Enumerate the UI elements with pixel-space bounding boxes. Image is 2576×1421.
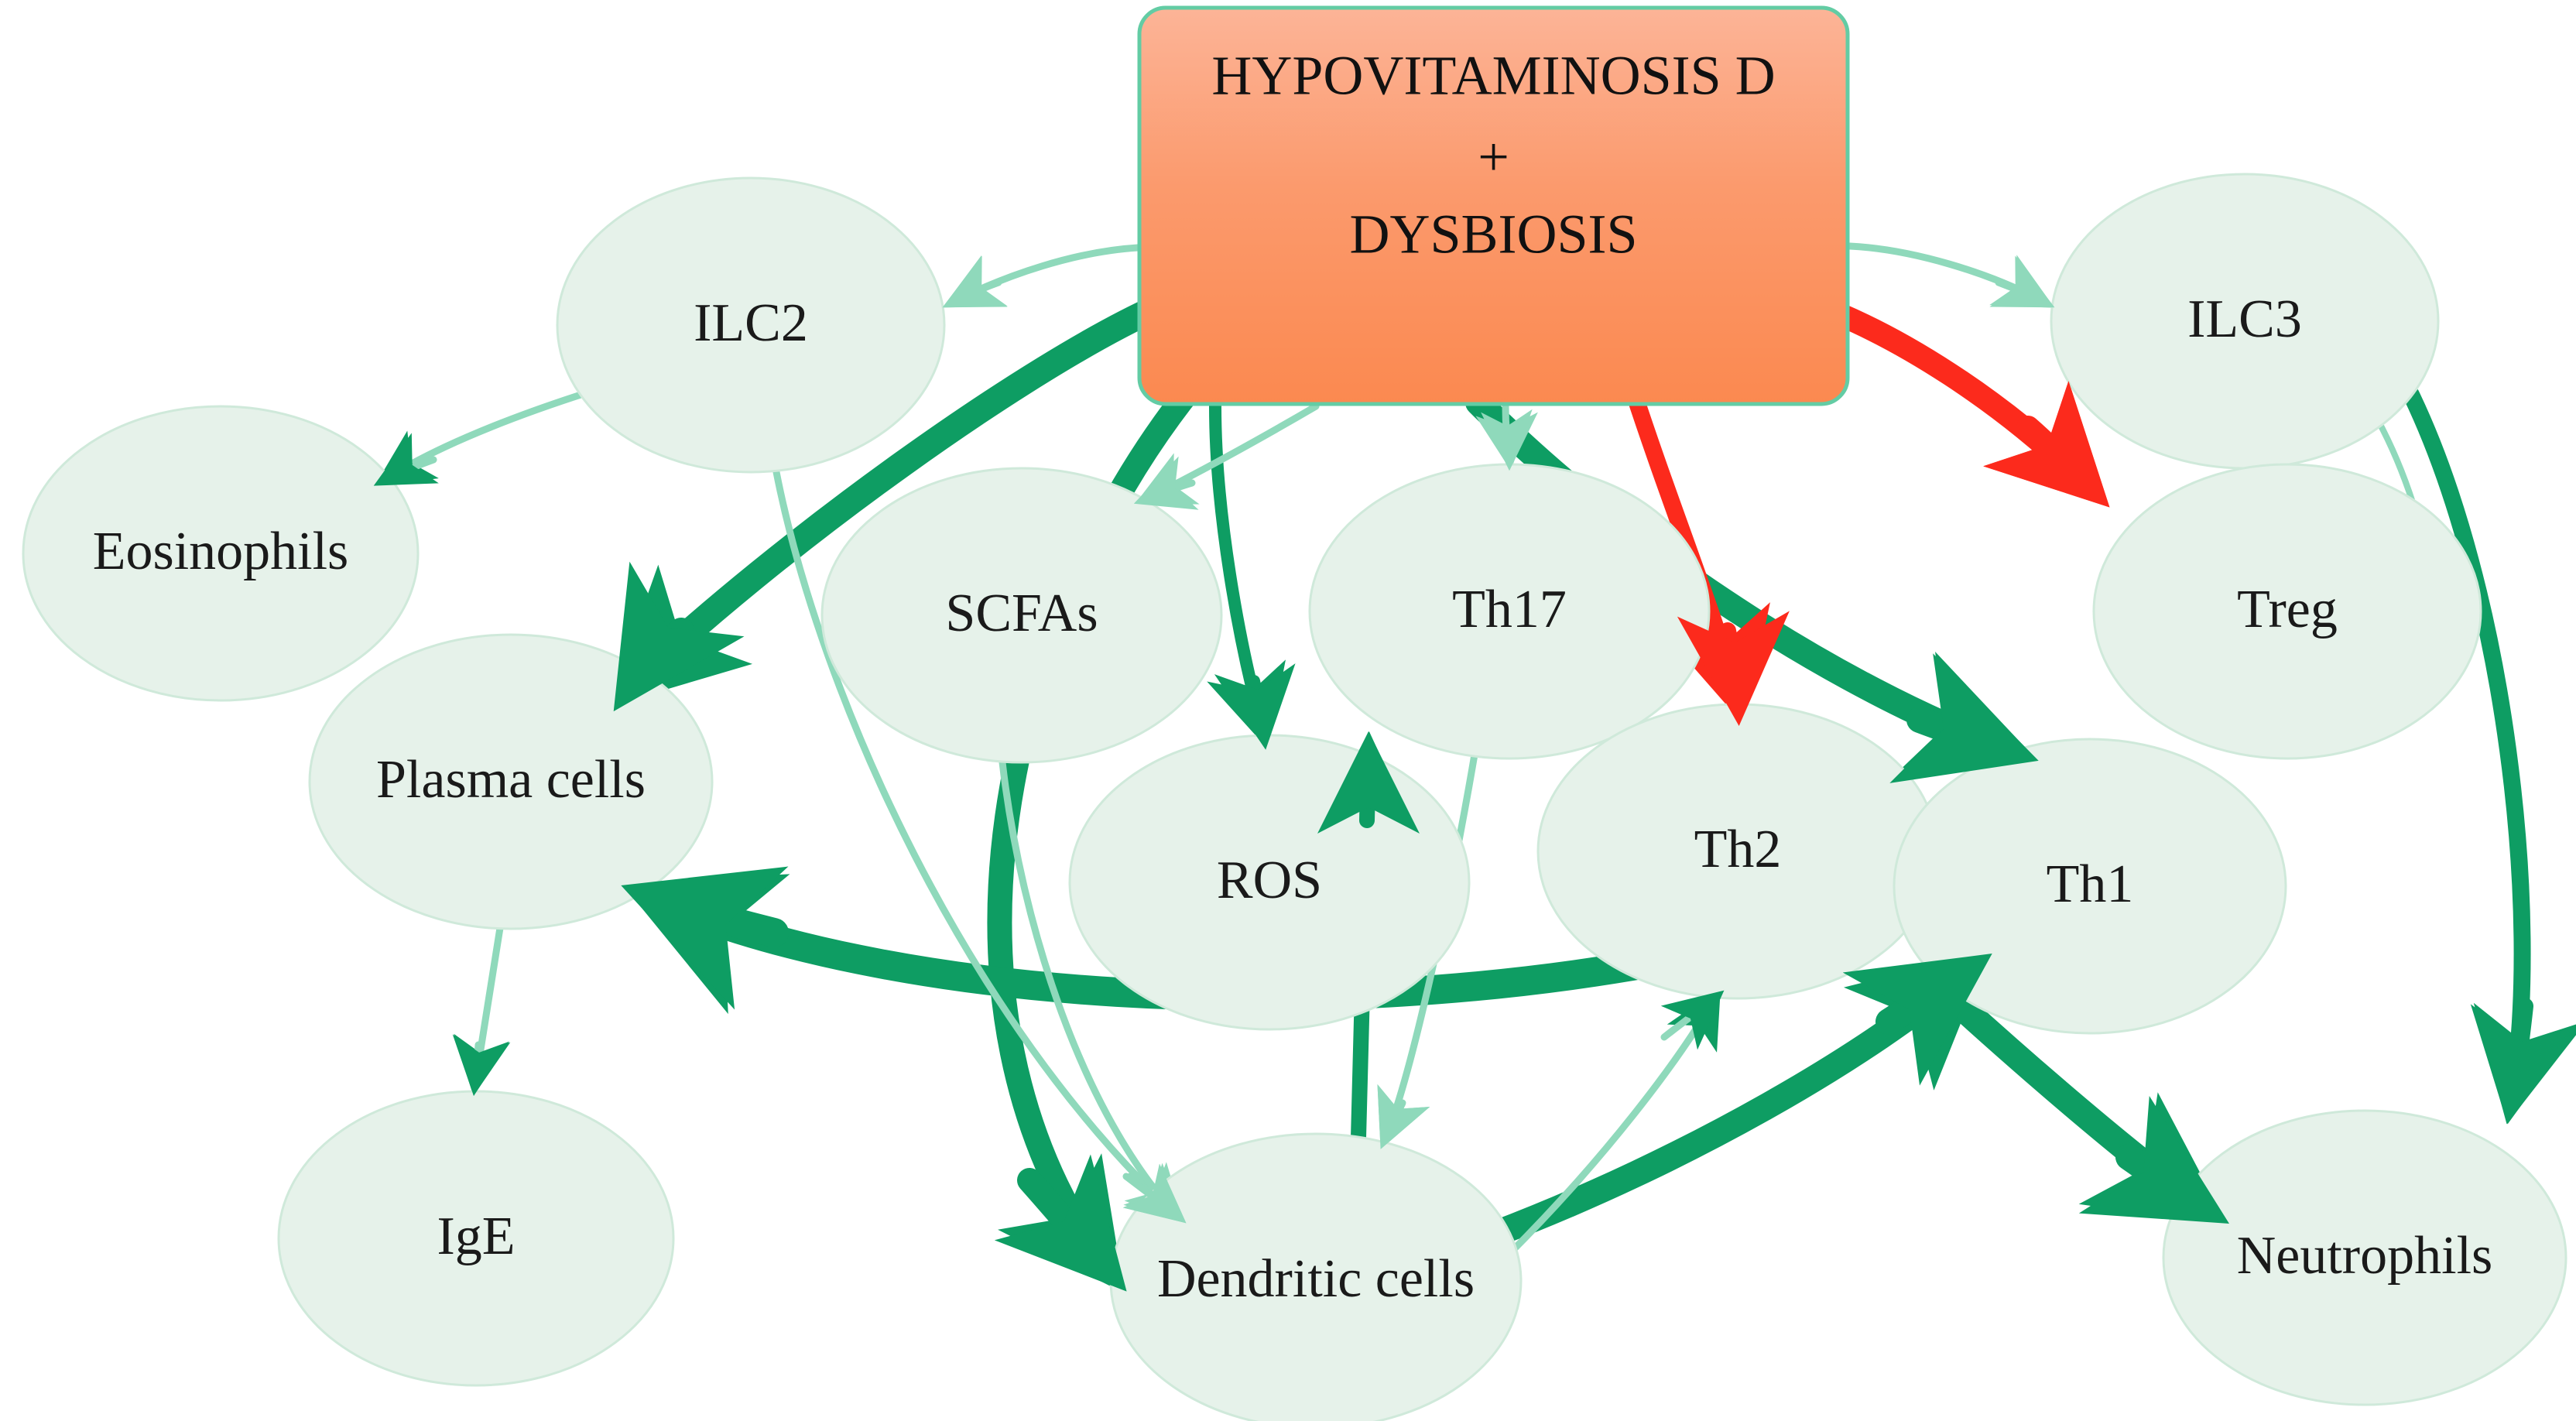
node-label-ige: IgE: [437, 1207, 515, 1266]
edge-tip-box-to-ilc3: [1999, 282, 2043, 302]
node-label-th1: Th1: [2047, 854, 2134, 914]
node-label-neutrophils: Neutrophils: [2237, 1226, 2493, 1286]
edge-tip-box-to-th2: [1728, 631, 1738, 700]
node-treg[interactable]: Treg: [2094, 464, 2481, 758]
node-neutrophils[interactable]: Neutrophils: [2163, 1111, 2566, 1405]
diagram-canvas: ILC2EosinophilsPlasma cellsIgESCFAsROSTh…: [0, 0, 2576, 1421]
node-label-ilc3: ILC3: [2187, 289, 2302, 349]
edge-tip-box-to-th17: [1508, 437, 1509, 458]
edge-tip-dendritic-cells-to-th17: [1367, 755, 1368, 820]
edge-tip-th2-to-plasma-cells: [654, 898, 774, 933]
node-label-scfas: SCFAs: [945, 584, 1098, 643]
edge-ilc3-to-neutrophils: [2411, 395, 2523, 1099]
node-label-th2: Th2: [1694, 820, 1782, 879]
node-ilc2[interactable]: ILC2: [557, 178, 944, 472]
edge-box-to-ilc2: [954, 248, 1138, 302]
box-title-plus-sign: +: [1478, 126, 1509, 188]
node-label-treg: Treg: [2237, 580, 2338, 639]
node-th17[interactable]: Th17: [1310, 464, 1709, 758]
central-box[interactable]: HYPOVITAMINOSIS D + DYSBIOSIS: [1139, 8, 1848, 404]
box-title-line-1: HYPOVITAMINOSIS D: [1211, 45, 1775, 107]
edge-tip-box-to-th1: [1920, 720, 2009, 751]
node-label-ilc2: ILC2: [694, 293, 808, 353]
node-dendritic[interactable]: Dendritic cells: [1111, 1134, 1521, 1421]
node-ros[interactable]: ROS: [1070, 735, 1469, 1029]
immune-pathway-diagram: ILC2EosinophilsPlasma cellsIgESCFAsROSTh…: [0, 0, 2576, 1421]
node-label-eosinophils: Eosinophils: [93, 522, 349, 581]
node-ige[interactable]: IgE: [279, 1091, 673, 1385]
box-title-line-3: DYSBIOSIS: [1349, 204, 1637, 265]
node-label-ros: ROS: [1217, 851, 1322, 910]
node-label-plasma: Plasma cells: [376, 750, 646, 810]
node-label-dendritic: Dendritic cells: [1157, 1249, 1475, 1309]
edge-box-to-ilc3: [1850, 246, 2043, 302]
node-label-th17: Th17: [1452, 580, 1567, 639]
node-ilc3[interactable]: ILC3: [2051, 174, 2438, 468]
edge-tip-box-to-treg: [2028, 427, 2090, 488]
node-th2[interactable]: Th2: [1538, 704, 1937, 998]
edge-tip-box-to-ilc2: [954, 282, 999, 302]
node-eosinophils[interactable]: Eosinophils: [23, 406, 418, 700]
node-scfas[interactable]: SCFAs: [822, 468, 1221, 762]
edge-tip-plasma-cells-to-ige: [475, 1045, 478, 1084]
